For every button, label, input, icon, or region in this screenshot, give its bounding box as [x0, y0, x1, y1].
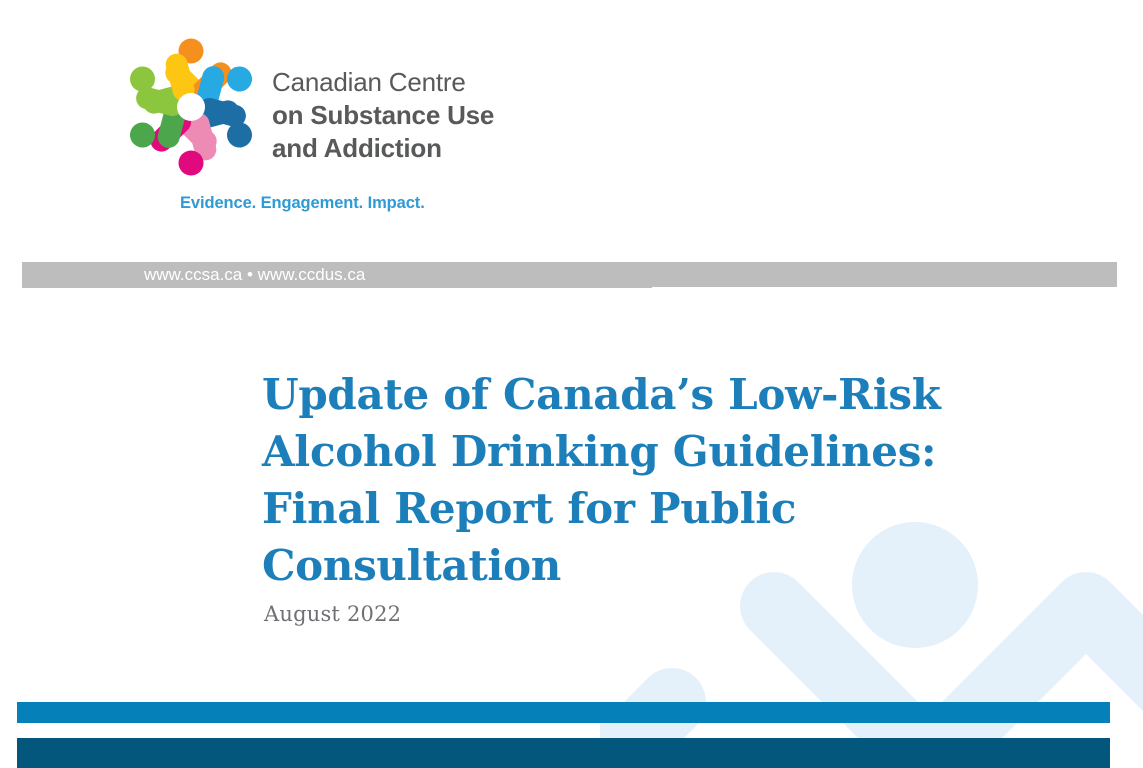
report-date: August 2022: [264, 602, 401, 626]
ccsa-tagline: Evidence. Engagement. Impact.: [180, 194, 425, 213]
ccsa-people-circle-logo-icon: [112, 28, 270, 186]
title-line-4: Consultation: [262, 537, 982, 594]
wordmark-line-3: and Addiction: [272, 132, 542, 165]
wordmark-line-1: Canadian Centre: [272, 66, 542, 99]
title-line-2: Alcohol Drinking Guidelines:: [262, 423, 982, 480]
report-cover-page: Canadian Centre on Substance Use and Add…: [0, 0, 1143, 768]
ccsa-wordmark: Canadian Centre on Substance Use and Add…: [272, 66, 542, 165]
website-url-text: www.ccsa.ca • www.ccdus.ca: [144, 262, 365, 287]
footer-bar-dark: [17, 738, 1110, 768]
website-url-bar: www.ccsa.ca • www.ccdus.ca: [22, 262, 1117, 287]
title-line-1: Update of Canada’s Low-Risk: [262, 366, 982, 423]
report-title: Update of Canada’s Low-Risk Alcohol Drin…: [262, 366, 982, 594]
title-line-3: Final Report for Public: [262, 480, 982, 537]
footer-bar-light: [17, 702, 1110, 723]
ccsa-logo-block: Canadian Centre on Substance Use and Add…: [112, 28, 532, 228]
wordmark-line-2: on Substance Use: [272, 99, 542, 132]
